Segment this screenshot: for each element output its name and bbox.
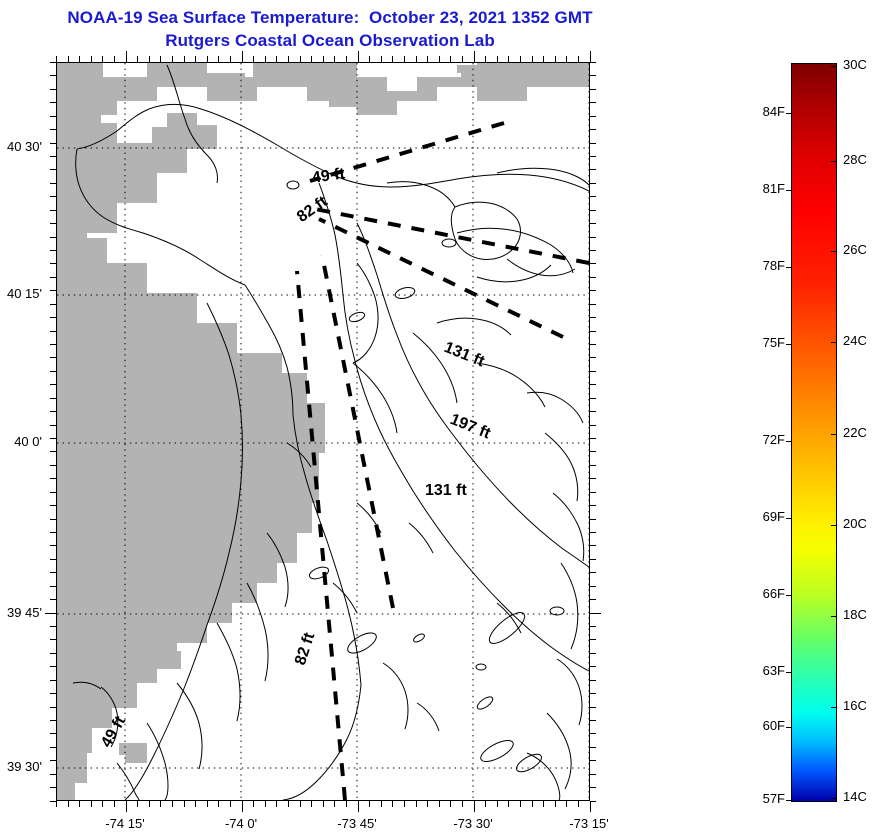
y-minor-tick (50, 304, 56, 305)
y-minor-tick (50, 169, 56, 170)
y-minor-tick (50, 250, 56, 251)
y-minor-tick (50, 532, 56, 533)
y-minor-tick (50, 586, 56, 587)
y-minor-tick-right (590, 183, 596, 184)
x-minor-tick-top (462, 56, 463, 62)
x-minor-tick-top (532, 56, 533, 62)
y-minor-tick-right (590, 801, 596, 802)
y-minor-tick (50, 760, 56, 761)
y-minor-tick (50, 411, 56, 412)
colorbar-f-tick-3 (786, 344, 792, 345)
colorbar-c-tick-8 (831, 798, 837, 799)
y-minor-tick (50, 62, 56, 63)
x-minor-tick (218, 801, 219, 807)
y-minor-tick-right (590, 89, 596, 90)
x-minor-tick (160, 801, 161, 807)
x-major-tick-top (358, 51, 359, 62)
colorbar-c-label-3: 24C (843, 333, 872, 348)
x-minor-tick-top (450, 56, 451, 62)
colorbar-f-label-9: 57F (713, 791, 785, 806)
y-tick-label-0: 40 30' (0, 139, 42, 154)
y-minor-tick (50, 787, 56, 788)
x-minor-tick (172, 801, 173, 807)
colorbar-c-label-5: 20C (843, 516, 872, 531)
y-minor-tick-right (590, 760, 596, 761)
y-minor-tick-right (590, 371, 596, 372)
y-minor-tick (50, 398, 56, 399)
colorbar-f-label-1: 81F (713, 181, 785, 196)
x-minor-tick-top (253, 56, 254, 62)
x-minor-tick (462, 801, 463, 807)
y-minor-tick-right (590, 572, 596, 573)
y-minor-tick (50, 89, 56, 90)
x-minor-tick (497, 801, 498, 807)
colorbar-f-label-5: 69F (713, 509, 785, 524)
x-minor-tick (369, 801, 370, 807)
x-minor-tick (392, 801, 393, 807)
colorbar-f-label-7: 63F (713, 663, 785, 678)
x-minor-tick-top (485, 56, 486, 62)
y-minor-tick (50, 210, 56, 211)
x-minor-tick-top (427, 56, 428, 62)
x-minor-tick (300, 801, 301, 807)
x-minor-tick-top (555, 56, 556, 62)
colorbar-f-label-2: 78F (713, 258, 785, 273)
y-minor-tick (50, 653, 56, 654)
colorbar-c-label-2: 26C (843, 242, 872, 257)
x-minor-tick-top (114, 56, 115, 62)
x-minor-tick-top (323, 56, 324, 62)
x-minor-tick (578, 801, 579, 807)
colorbar-f-tick-1 (786, 190, 792, 191)
y-minor-tick (50, 357, 56, 358)
y-minor-tick-right (590, 263, 596, 264)
y-major-tick-right (590, 613, 601, 614)
y-minor-tick-right (590, 505, 596, 506)
y-minor-tick (50, 344, 56, 345)
colorbar-f-tick-6 (786, 595, 792, 596)
colorbar-c-tick-5 (831, 525, 837, 526)
y-minor-tick (50, 572, 56, 573)
colorbar-f-tick-4 (786, 441, 792, 442)
y-minor-tick-right (590, 357, 596, 358)
x-minor-tick (137, 801, 138, 807)
y-minor-tick-right (590, 344, 596, 345)
x-minor-tick-top (102, 56, 103, 62)
y-minor-tick (50, 331, 56, 332)
colorbar-f-tick-9 (786, 800, 792, 801)
y-minor-tick-right (590, 787, 596, 788)
y-minor-tick-right (590, 733, 596, 734)
y-minor-tick (50, 465, 56, 466)
y-minor-tick-right (590, 532, 596, 533)
y-minor-tick (50, 720, 56, 721)
y-minor-tick (50, 693, 56, 694)
y-minor-tick (50, 277, 56, 278)
y-minor-tick-right (590, 62, 596, 63)
y-minor-tick (50, 559, 56, 560)
x-minor-tick-top (497, 56, 498, 62)
y-minor-tick (50, 371, 56, 372)
x-minor-tick (102, 801, 103, 807)
colorbar-c-tick-3 (831, 342, 837, 343)
x-minor-tick-top (520, 56, 521, 62)
x-minor-tick (230, 801, 231, 807)
x-major-tick-top (242, 51, 243, 62)
y-minor-tick (50, 639, 56, 640)
depth-label-d5: 131 ft (425, 482, 467, 500)
y-minor-tick (50, 680, 56, 681)
y-minor-tick (50, 492, 56, 493)
x-minor-tick (520, 801, 521, 807)
y-minor-tick (50, 129, 56, 130)
colorbar-c-tick-7 (831, 707, 837, 708)
y-minor-tick (50, 545, 56, 546)
page-title: NOAA-19 Sea Surface Temperature: October… (0, 6, 660, 52)
y-minor-tick (50, 156, 56, 157)
x-minor-tick-top (300, 56, 301, 62)
colorbar-f-tick-8 (786, 727, 792, 728)
x-minor-tick (450, 801, 451, 807)
x-minor-tick-top (404, 56, 405, 62)
y-minor-tick (50, 425, 56, 426)
x-tick-label-3: -73 30' (423, 816, 523, 831)
x-minor-tick-top (381, 56, 382, 62)
colorbar-f-tick-0 (786, 113, 792, 114)
title-line-1: NOAA-19 Sea Surface Temperature: October… (0, 6, 660, 29)
y-minor-tick (50, 183, 56, 184)
y-minor-tick (50, 505, 56, 506)
colorbar-c-label-6: 18C (843, 607, 872, 622)
y-minor-tick (50, 747, 56, 748)
y-minor-tick (50, 626, 56, 627)
colorbar-c-label-1: 28C (843, 152, 872, 167)
colorbar-c-label-0: 30C (843, 57, 872, 72)
colorbar-c-label-4: 22C (843, 425, 872, 440)
y-tick-label-2: 40 0' (0, 434, 42, 449)
x-minor-tick-top (334, 56, 335, 62)
y-minor-tick-right (590, 666, 596, 667)
y-tick-label-1: 40 15' (0, 286, 42, 301)
y-minor-tick (50, 801, 56, 802)
y-minor-tick (50, 196, 56, 197)
x-tick-label-4: -73 15' (539, 816, 639, 831)
x-minor-tick-top (56, 56, 57, 62)
x-minor-tick-top (184, 56, 185, 62)
y-minor-tick-right (590, 492, 596, 493)
y-minor-tick (50, 774, 56, 775)
y-minor-tick-right (590, 680, 596, 681)
x-minor-tick-top (91, 56, 92, 62)
y-minor-tick-right (590, 143, 596, 144)
x-minor-tick (91, 801, 92, 807)
colorbar-c-tick-0 (831, 66, 837, 67)
x-minor-tick (532, 801, 533, 807)
x-minor-tick (323, 801, 324, 807)
x-minor-tick-top (543, 56, 544, 62)
x-major-tick-top (590, 51, 591, 62)
x-minor-tick-top (265, 56, 266, 62)
y-minor-tick-right (590, 707, 596, 708)
y-minor-tick-right (590, 156, 596, 157)
x-minor-tick-top (416, 56, 417, 62)
y-minor-tick (50, 223, 56, 224)
y-major-tick (45, 613, 56, 614)
x-minor-tick-top (68, 56, 69, 62)
y-minor-tick-right (590, 599, 596, 600)
y-minor-tick-right (590, 639, 596, 640)
x-tick-label-2: -73 45' (307, 816, 407, 831)
colorbar-c-label-7: 16C (843, 698, 872, 713)
x-minor-tick-top (207, 56, 208, 62)
y-minor-tick-right (590, 519, 596, 520)
y-minor-tick-right (590, 626, 596, 627)
colorbar-c-tick-2 (831, 251, 837, 252)
x-minor-tick-top (392, 56, 393, 62)
x-minor-tick-top (566, 56, 567, 62)
x-minor-tick (439, 801, 440, 807)
x-minor-tick-top (578, 56, 579, 62)
y-minor-tick-right (590, 559, 596, 560)
sst-map-page: NOAA-19 Sea Surface Temperature: October… (0, 0, 872, 832)
y-minor-tick (50, 599, 56, 600)
swath-dashed-lines (297, 123, 589, 800)
x-minor-tick-top (311, 56, 312, 62)
y-minor-tick-right (590, 223, 596, 224)
x-minor-tick-top (195, 56, 196, 62)
x-minor-tick (56, 801, 57, 807)
y-minor-tick (50, 384, 56, 385)
x-minor-tick-top (149, 56, 150, 62)
y-minor-tick (50, 290, 56, 291)
y-minor-tick-right (590, 465, 596, 466)
x-minor-tick-top (369, 56, 370, 62)
x-minor-tick (195, 801, 196, 807)
colorbar-gradient (792, 64, 836, 801)
x-major-tick (242, 801, 243, 812)
x-minor-tick-top (172, 56, 173, 62)
y-minor-tick-right (590, 129, 596, 130)
x-major-tick (474, 801, 475, 812)
x-major-tick-top (474, 51, 475, 62)
y-minor-tick-right (590, 196, 596, 197)
title-line-2: Rutgers Coastal Ocean Observation Lab (0, 29, 660, 52)
y-tick-label-3: 39 45' (0, 605, 42, 620)
x-minor-tick (79, 801, 80, 807)
x-minor-tick (311, 801, 312, 807)
y-minor-tick-right (590, 210, 596, 211)
y-tick-label-4: 39 30' (0, 759, 42, 774)
x-minor-tick (276, 801, 277, 807)
x-minor-tick (485, 801, 486, 807)
x-tick-label-1: -74 0' (191, 816, 291, 831)
colorbar-f-label-3: 75F (713, 335, 785, 350)
x-minor-tick-top (439, 56, 440, 62)
x-minor-tick (427, 801, 428, 807)
y-minor-tick-right (590, 586, 596, 587)
y-minor-tick-right (590, 384, 596, 385)
y-minor-tick-right (590, 250, 596, 251)
y-minor-tick (50, 707, 56, 708)
x-minor-tick (265, 801, 266, 807)
x-minor-tick (149, 801, 150, 807)
y-minor-tick-right (590, 478, 596, 479)
y-minor-tick-right (590, 720, 596, 721)
x-major-tick (590, 801, 591, 812)
y-minor-tick (50, 143, 56, 144)
colorbar-f-label-4: 72F (713, 432, 785, 447)
colorbar-f-tick-5 (786, 518, 792, 519)
y-minor-tick-right (590, 451, 596, 452)
x-minor-tick-top (288, 56, 289, 62)
x-major-tick-top (126, 51, 127, 62)
y-minor-tick (50, 451, 56, 452)
x-minor-tick (184, 801, 185, 807)
colorbar-f-tick-2 (786, 267, 792, 268)
colorbar-f-label-8: 60F (713, 718, 785, 733)
temperature-colorbar[interactable] (791, 63, 837, 802)
x-minor-tick (566, 801, 567, 807)
y-minor-tick-right (590, 398, 596, 399)
y-minor-tick-right (590, 331, 596, 332)
y-minor-tick (50, 116, 56, 117)
y-minor-tick (50, 75, 56, 76)
y-minor-tick (50, 317, 56, 318)
x-major-tick (358, 801, 359, 812)
x-minor-tick (555, 801, 556, 807)
x-minor-tick (253, 801, 254, 807)
y-minor-tick-right (590, 774, 596, 775)
colorbar-c-tick-4 (831, 434, 837, 435)
y-minor-tick (50, 666, 56, 667)
x-minor-tick (334, 801, 335, 807)
y-minor-tick (50, 519, 56, 520)
y-minor-tick-right (590, 693, 596, 694)
colorbar-c-tick-1 (831, 161, 837, 162)
x-minor-tick-top (230, 56, 231, 62)
x-minor-tick (381, 801, 382, 807)
x-minor-tick-top (276, 56, 277, 62)
y-minor-tick (50, 237, 56, 238)
x-minor-tick-top (346, 56, 347, 62)
y-minor-tick-right (590, 747, 596, 748)
y-minor-tick-right (590, 237, 596, 238)
y-minor-tick-right (590, 653, 596, 654)
y-minor-tick-right (590, 411, 596, 412)
colorbar-c-label-8: 14C (843, 789, 872, 804)
x-minor-tick (416, 801, 417, 807)
x-minor-tick (404, 801, 405, 807)
x-minor-tick (68, 801, 69, 807)
x-minor-tick (346, 801, 347, 807)
x-minor-tick (508, 801, 509, 807)
colorbar-f-label-6: 66F (713, 586, 785, 601)
y-minor-tick-right (590, 277, 596, 278)
x-minor-tick (207, 801, 208, 807)
x-minor-tick-top (137, 56, 138, 62)
y-minor-tick (50, 263, 56, 264)
y-minor-tick-right (590, 116, 596, 117)
y-minor-tick-right (590, 438, 596, 439)
x-tick-label-0: -74 15' (75, 816, 175, 831)
x-minor-tick (288, 801, 289, 807)
x-minor-tick-top (508, 56, 509, 62)
colorbar-f-tick-7 (786, 672, 792, 673)
y-minor-tick (50, 478, 56, 479)
x-minor-tick (114, 801, 115, 807)
y-minor-tick-right (590, 425, 596, 426)
y-minor-tick-right (590, 317, 596, 318)
y-minor-tick (50, 438, 56, 439)
y-minor-tick-right (590, 304, 596, 305)
y-minor-tick (50, 102, 56, 103)
y-minor-tick-right (590, 75, 596, 76)
y-minor-tick-right (590, 169, 596, 170)
x-minor-tick-top (160, 56, 161, 62)
x-minor-tick-top (79, 56, 80, 62)
x-minor-tick (543, 801, 544, 807)
colorbar-c-tick-6 (831, 616, 837, 617)
colorbar-f-label-0: 84F (713, 104, 785, 119)
x-major-tick (126, 801, 127, 812)
x-minor-tick-top (218, 56, 219, 62)
y-minor-tick-right (590, 102, 596, 103)
y-minor-tick-right (590, 290, 596, 291)
y-minor-tick-right (590, 545, 596, 546)
y-minor-tick (50, 733, 56, 734)
